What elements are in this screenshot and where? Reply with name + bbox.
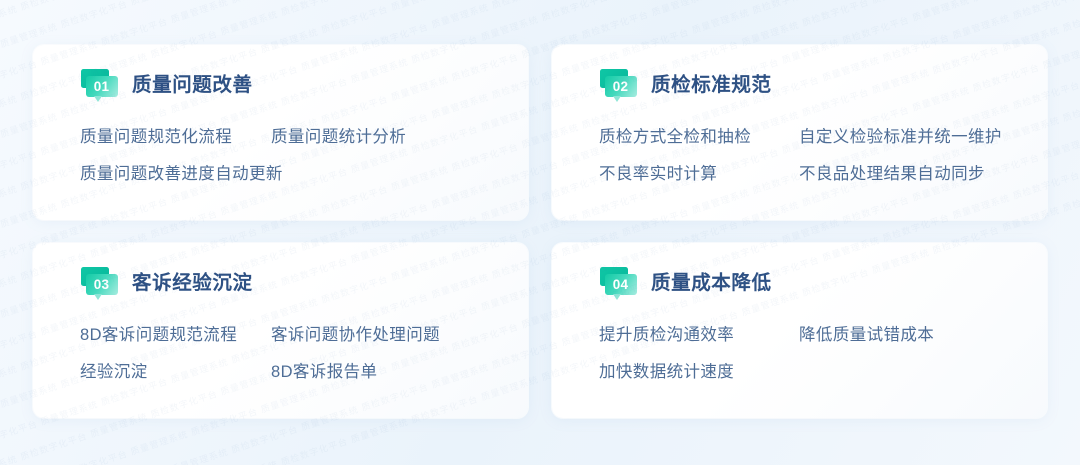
feature-item: 客诉问题协作处理问题 [271, 317, 510, 354]
badge-number: 04 [605, 274, 637, 295]
feature-card-03[interactable]: 03 客诉经验沉淀 8D客诉问题规范流程 客诉问题协作处理问题 经验沉淀 8D客… [33, 243, 528, 418]
feature-item: 自定义检验标准并统一维护 [799, 119, 1029, 156]
feature-item: 质检方式全检和抽检 [599, 119, 799, 156]
badge-number: 03 [86, 274, 118, 295]
speech-bubble-number-icon: 04 [600, 267, 637, 301]
feature-card-04[interactable]: 04 质量成本降低 提升质检沟通效率 降低质量试错成本 加快数据统计速度 [552, 243, 1047, 418]
badge-number: 01 [86, 76, 118, 97]
feature-item: 质量问题改善进度自动更新 [80, 156, 271, 193]
card-header: 01 质量问题改善 [81, 69, 253, 103]
watermark-text: 质量管理系统 质检数字化平台 质量管理系统 质检数字化平台 质量管理系统 质检数… [0, 0, 1080, 3]
speech-bubble-number-icon: 03 [81, 267, 118, 301]
feature-card-01[interactable]: 01 质量问题改善 质量问题规范化流程 质量问题统计分析 质量问题改善进度自动更… [33, 45, 528, 220]
feature-item: 降低质量试错成本 [799, 317, 1029, 354]
feature-item: 经验沉淀 [80, 354, 271, 391]
feature-card-grid: 01 质量问题改善 质量问题规范化流程 质量问题统计分析 质量问题改善进度自动更… [33, 45, 1047, 418]
feature-highlights-page: 质量管理系统 质检数字化平台 质量管理系统 质检数字化平台 质量管理系统 质检数… [0, 0, 1080, 465]
feature-item-list: 8D客诉问题规范流程 客诉问题协作处理问题 经验沉淀 8D客诉报告单 [80, 317, 510, 391]
feature-item: 不良率实时计算 [599, 156, 799, 193]
feature-card-02[interactable]: 02 质检标准规范 质检方式全检和抽检 自定义检验标准并统一维护 不良率实时计算… [552, 45, 1047, 220]
feature-item: 质量问题统计分析 [271, 119, 510, 156]
feature-item-list: 提升质检沟通效率 降低质量试错成本 加快数据统计速度 [599, 317, 1029, 391]
feature-item: 提升质检沟通效率 [599, 317, 799, 354]
speech-bubble-number-icon: 01 [81, 69, 118, 103]
watermark-text: 质量管理系统 质检数字化平台 质量管理系统 质检数字化平台 质量管理系统 质检数… [0, 0, 1080, 33]
card-header: 02 质检标准规范 [600, 69, 772, 103]
card-header: 04 质量成本降低 [600, 267, 772, 301]
card-title: 质量问题改善 [132, 76, 253, 97]
feature-item-list: 质检方式全检和抽检 自定义检验标准并统一维护 不良率实时计算 不良品处理结果自动… [599, 119, 1029, 193]
card-title: 客诉经验沉淀 [132, 274, 253, 295]
card-title: 质检标准规范 [651, 76, 772, 97]
feature-item: 加快数据统计速度 [599, 354, 799, 391]
feature-item: 8D客诉问题规范流程 [80, 317, 271, 354]
feature-item: 质量问题规范化流程 [80, 119, 271, 156]
card-title: 质量成本降低 [651, 274, 772, 295]
feature-item: 8D客诉报告单 [271, 354, 510, 391]
speech-bubble-number-icon: 02 [600, 69, 637, 103]
feature-item-list: 质量问题规范化流程 质量问题统计分析 质量问题改善进度自动更新 [80, 119, 510, 193]
badge-number: 02 [605, 76, 637, 97]
feature-item: 不良品处理结果自动同步 [799, 156, 1029, 193]
card-header: 03 客诉经验沉淀 [81, 267, 253, 301]
